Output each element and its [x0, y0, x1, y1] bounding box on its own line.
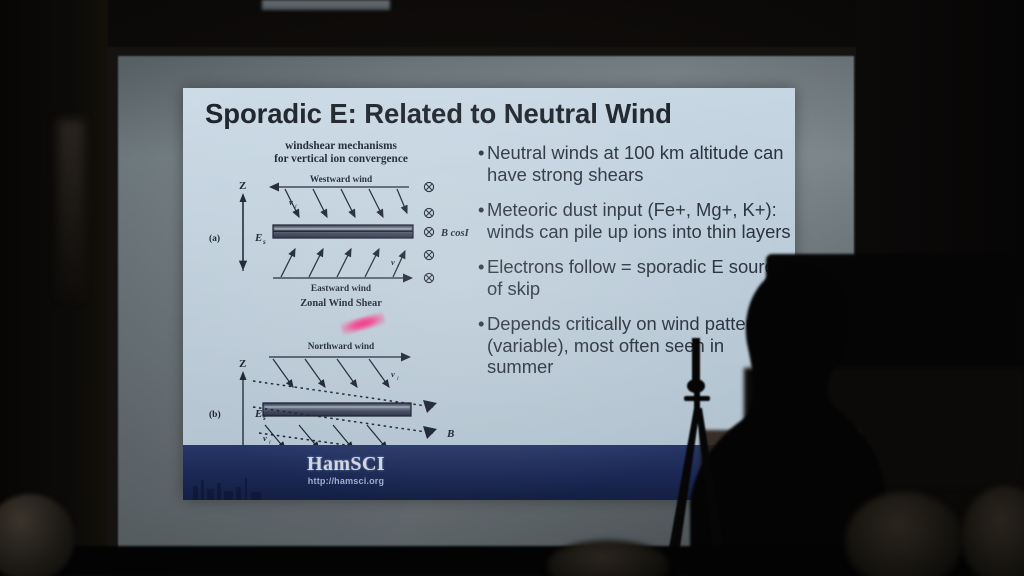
hamsci-url: http://hamsci.org	[281, 476, 411, 486]
bullet-text: Neutral winds at 100 km altitude can hav…	[487, 142, 794, 185]
svg-text:B: B	[446, 428, 454, 440]
svg-text:Zonal Wind Shear: Zonal Wind Shear	[300, 298, 382, 309]
svg-text:(b): (b)	[209, 409, 221, 420]
svg-text:i: i	[397, 376, 399, 382]
svg-text:v: v	[391, 369, 395, 379]
bullet-marker: •	[478, 199, 487, 242]
figure-panel-a: (a) Z E s	[201, 165, 481, 313]
list-item: • Neutral winds at 100 km altitude can h…	[478, 142, 794, 185]
presentation-room-scene: Sporadic E: Related to Neutral Wind wind…	[0, 0, 1024, 576]
svg-text:s: s	[262, 238, 266, 246]
svg-text:v: v	[391, 257, 395, 267]
svg-text:Z: Z	[239, 180, 246, 192]
svg-text:E: E	[254, 232, 262, 244]
microphone-stand-silhouette	[620, 330, 750, 576]
svg-text:B cosI: B cosI	[440, 228, 470, 239]
hamsci-logo-text: HamSCI	[281, 453, 411, 475]
svg-text:Eastward wind: Eastward wind	[311, 284, 372, 294]
bullet-text: Meteoric dust input (Fe+, Mg+, K+): wind…	[487, 199, 794, 242]
ceiling-light-patch	[262, 0, 390, 10]
svg-text:v: v	[289, 197, 293, 207]
left-wall-shadow	[0, 0, 108, 576]
figure-caption-line-2: for vertical ion convergence	[201, 153, 481, 166]
bullet-marker: •	[478, 142, 487, 185]
windshear-figure: windshear mechanisms for vertical ion co…	[201, 140, 481, 490]
bullet-marker: •	[478, 313, 487, 378]
left-light-sliver	[58, 120, 84, 300]
bullet-marker: •	[478, 256, 487, 299]
svg-text:(a): (a)	[209, 233, 220, 244]
svg-text:Westward wind: Westward wind	[310, 175, 373, 185]
svg-text:Northward wind: Northward wind	[308, 342, 375, 352]
slide-title: Sporadic E: Related to Neutral Wind	[205, 98, 775, 130]
svg-text:Z: Z	[239, 358, 246, 370]
list-item: • Meteoric dust input (Fe+, Mg+, K+): wi…	[478, 199, 794, 242]
figure-caption-line-1: windshear mechanisms	[201, 140, 481, 153]
svg-text:E: E	[254, 408, 262, 420]
audience-head	[846, 492, 962, 576]
svg-text:i: i	[295, 204, 297, 210]
